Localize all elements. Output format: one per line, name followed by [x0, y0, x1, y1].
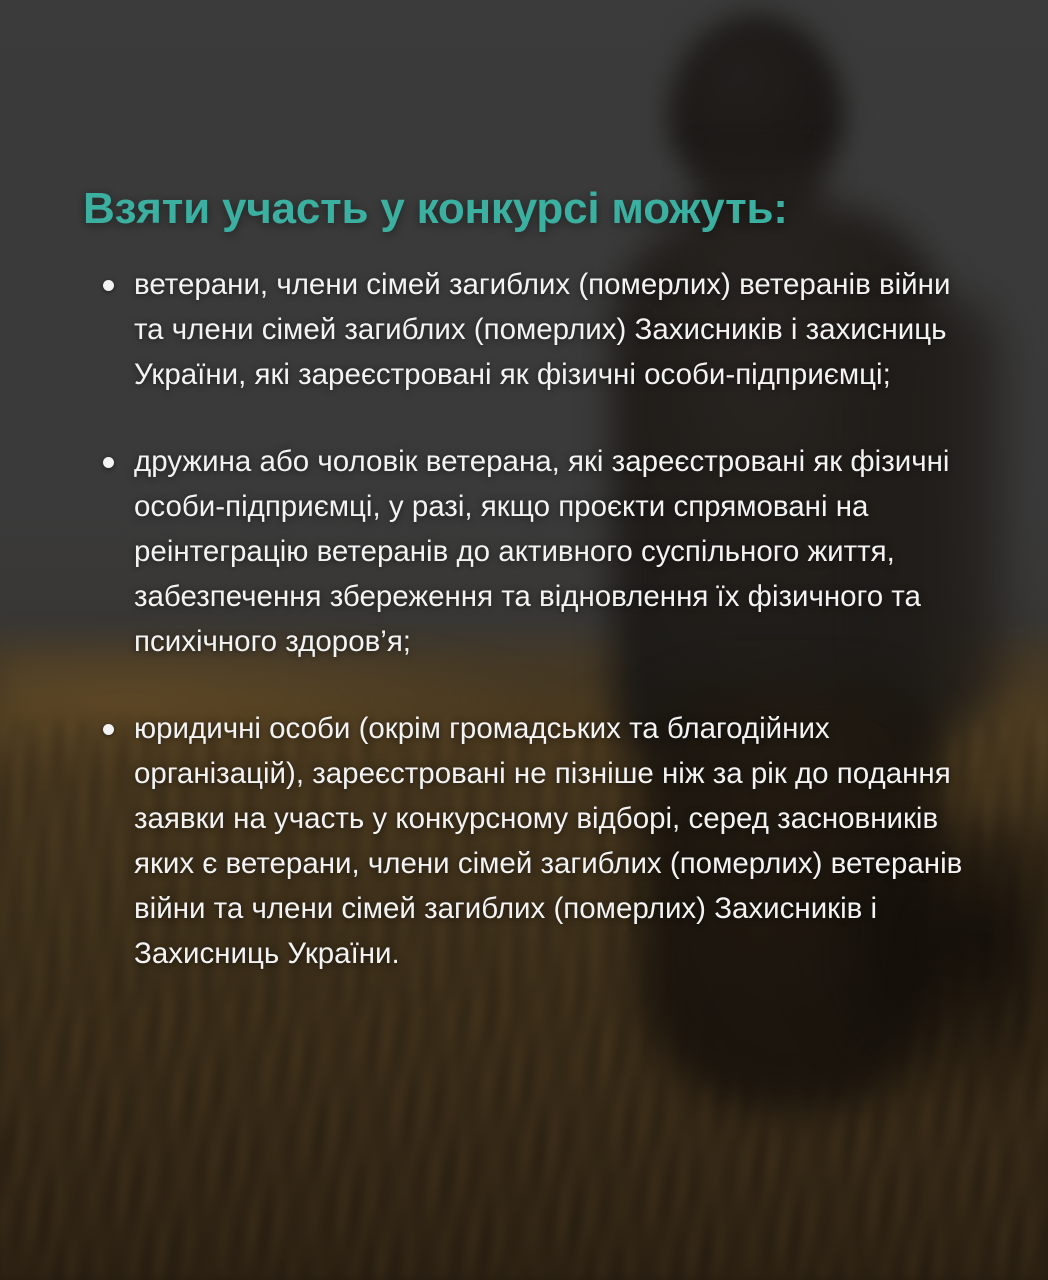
slide-content: Взяти участь у конкурсі можуть: ветерани…: [0, 0, 1048, 1280]
slide-title: Взяти участь у конкурсі можуть:: [83, 184, 788, 234]
eligibility-bullet-list: ветерани, члени сімей загиблих (померлих…: [97, 262, 977, 976]
bullet-item-1: ветерани, члени сімей загиблих (померлих…: [97, 262, 977, 397]
bullet-item-3-text: юридичні особи (окрім громадських та бла…: [134, 706, 964, 976]
bullet-item-1-text: ветерани, члени сімей загиблих (померлих…: [134, 262, 964, 397]
slide-root: Взяти участь у конкурсі можуть: ветерани…: [0, 0, 1048, 1280]
bullet-item-2: дружина або чоловік ветерана, які зареєс…: [97, 439, 977, 664]
bullet-dot-icon: [103, 280, 114, 291]
bullet-item-2-text: дружина або чоловік ветерана, які зареєс…: [134, 439, 964, 664]
bullet-item-3: юридичні особи (окрім громадських та бла…: [97, 706, 977, 976]
bullet-dot-icon: [103, 457, 114, 468]
bullet-dot-icon: [103, 724, 114, 735]
